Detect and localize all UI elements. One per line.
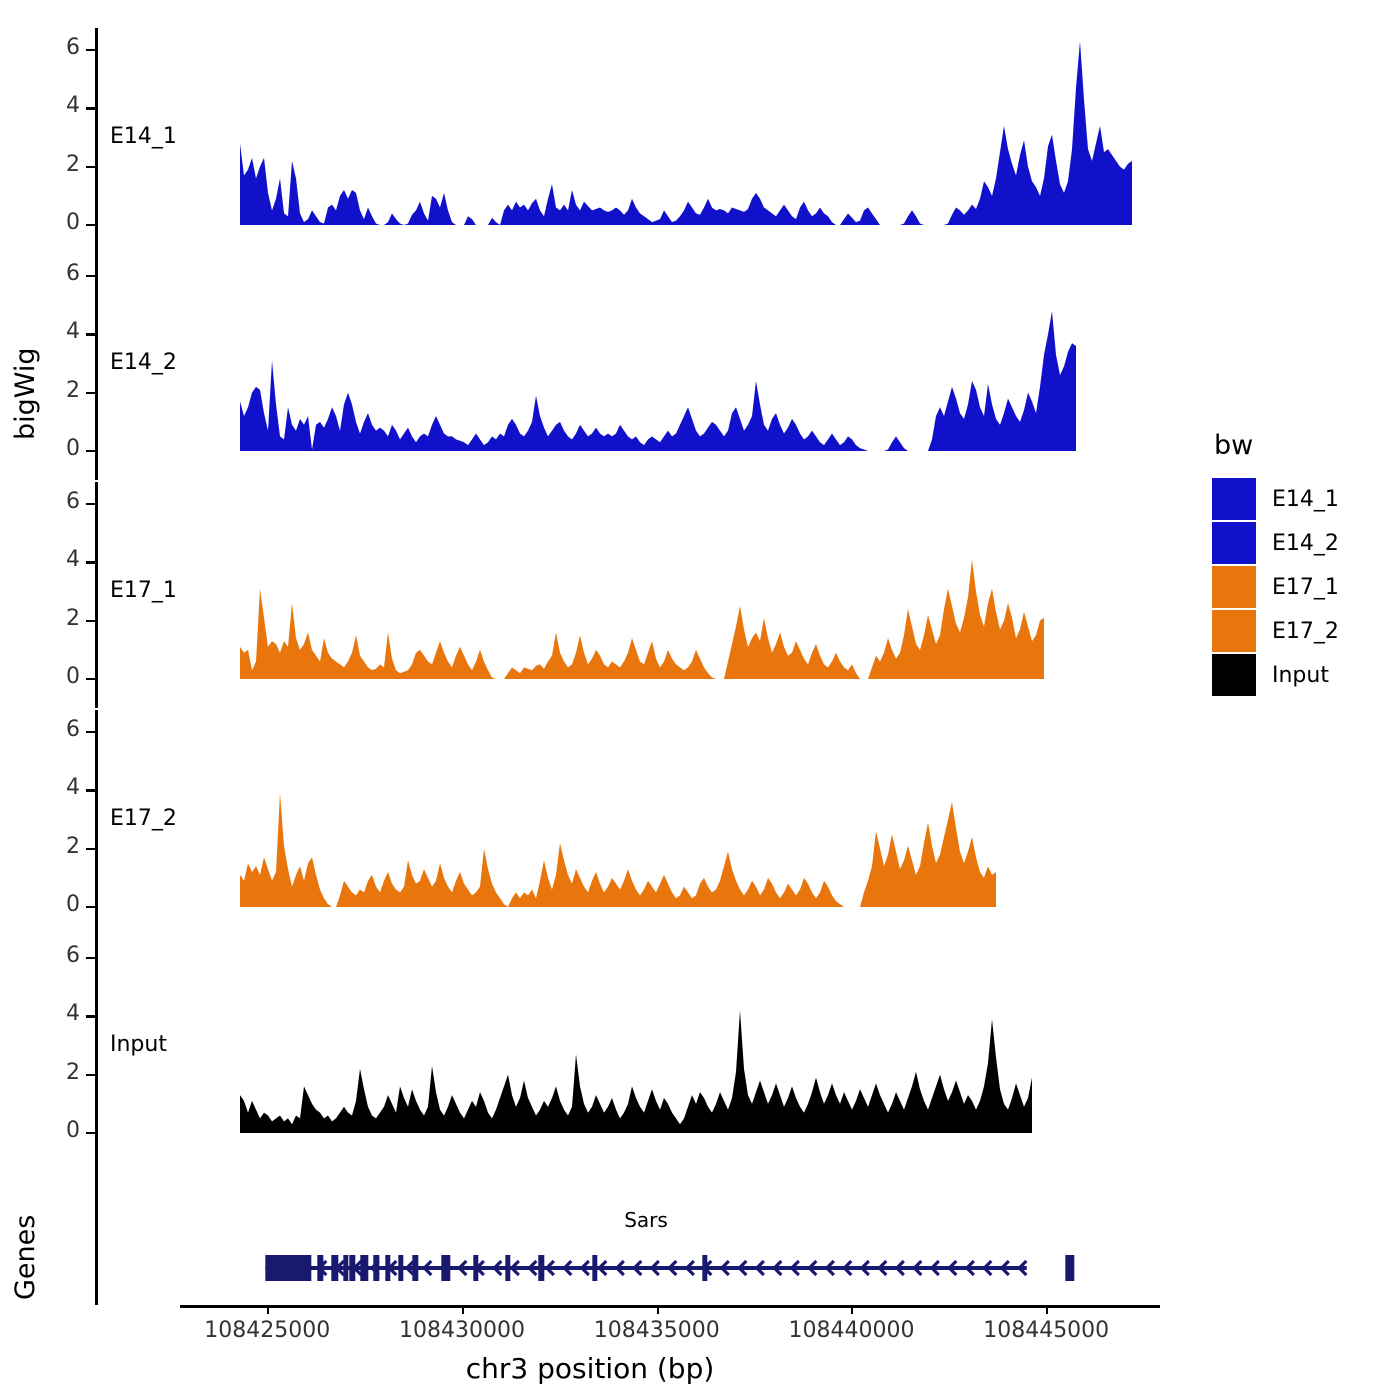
legend-title: bw [1214,430,1392,461]
x-tick-label: 108440000 [751,1318,951,1343]
x-tick [462,1305,464,1314]
x-tick [657,1305,659,1314]
track-panel-e14_1: 0246E14_1 [0,28,1180,254]
legend-item-label: Input [1272,663,1329,688]
track-panel-input: 0246Input [0,936,1180,1162]
track-plot-area[interactable] [0,254,1180,480]
track-panel-e17_1: 0246E17_1 [0,482,1180,708]
legend-color-swatch [1212,610,1256,652]
legend-items: E14_1E14_2E17_1E17_2Input [1212,477,1392,697]
x-tick-label: 108425000 [167,1318,367,1343]
x-tick [267,1305,269,1314]
x-tick [851,1305,853,1314]
x-tick-label: 108430000 [362,1318,562,1343]
x-tick-label: 108445000 [946,1318,1146,1343]
track-panel-e14_2: 0246E14_2 [0,254,1180,480]
gene-model[interactable] [0,1160,1180,1309]
legend-color-swatch [1212,478,1256,520]
legend-item-label: E17_1 [1272,575,1339,600]
legend-item-e17_1[interactable]: E17_1 [1212,565,1392,609]
legend-item-e14_2[interactable]: E14_2 [1212,521,1392,565]
genes-axis-line [95,1160,98,1305]
legend-color-swatch [1212,522,1256,564]
legend-item-label: E14_1 [1272,487,1339,512]
track-panel-e17_2: 0246E17_2 [0,710,1180,936]
gene-label: Sars [546,1208,746,1232]
x-axis-line [180,1305,1160,1308]
genes-panel: Sars [0,1160,1180,1305]
legend-item-label: E17_2 [1272,619,1339,644]
legend-item-e17_2[interactable]: E17_2 [1212,609,1392,653]
x-tick [1046,1305,1048,1314]
legend: bw E14_1E14_2E17_1E17_2Input [1212,430,1392,697]
x-tick-label: 108435000 [557,1318,757,1343]
x-axis-title: chr3 position (bp) [0,1352,1180,1385]
legend-color-swatch [1212,566,1256,608]
legend-item-e14_1[interactable]: E14_1 [1212,477,1392,521]
track-plot-area[interactable] [0,936,1180,1162]
legend-item-input[interactable]: Input [1212,653,1392,697]
track-plot-area[interactable] [0,482,1180,708]
legend-color-swatch [1212,654,1256,696]
legend-item-label: E14_2 [1272,531,1339,556]
track-plot-area[interactable] [0,710,1180,936]
track-plot-area[interactable] [0,28,1180,254]
